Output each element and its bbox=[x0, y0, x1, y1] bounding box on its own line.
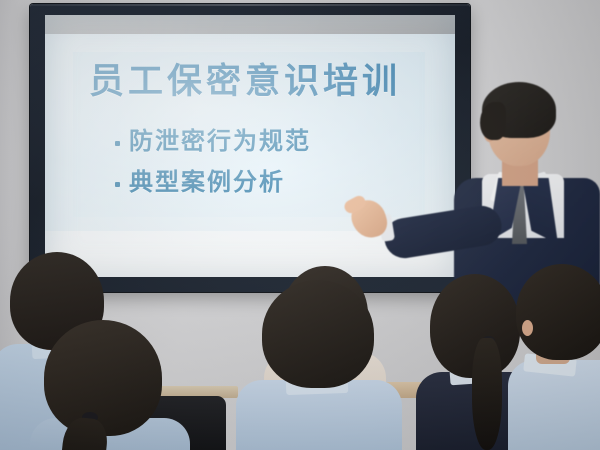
presenter-hair-side bbox=[480, 102, 506, 140]
training-room-photo: 员工保密意识培训 防泄密行为规范 典型案例分析 bbox=[0, 0, 600, 450]
attendee-hair bbox=[516, 264, 600, 360]
slide-bullet-text: 防泄密行为规范 bbox=[129, 126, 311, 158]
attendee-right-man bbox=[510, 268, 600, 450]
attendee-center-man bbox=[246, 284, 390, 450]
attendee-hair bbox=[44, 320, 162, 436]
attendee-front-woman bbox=[34, 326, 184, 450]
bezel-highlight bbox=[30, 4, 470, 6]
bullet-dot-icon bbox=[115, 141, 120, 146]
slide-bullet-text: 典型案例分析 bbox=[129, 167, 285, 199]
slide-bullet-item: 典型案例分析 bbox=[115, 167, 415, 199]
slide-title: 员工保密意识培训 bbox=[89, 60, 409, 104]
slide-bullet-list: 防泄密行为规范 典型案例分析 bbox=[115, 126, 415, 208]
presentation-app-bar bbox=[45, 15, 455, 35]
bullet-dot-icon bbox=[115, 182, 120, 187]
attendee-hair bbox=[262, 280, 374, 388]
attendee-ear bbox=[522, 320, 533, 336]
slide-bullet-item: 防泄密行为规范 bbox=[115, 126, 415, 158]
attendee-ponytail bbox=[472, 338, 502, 450]
